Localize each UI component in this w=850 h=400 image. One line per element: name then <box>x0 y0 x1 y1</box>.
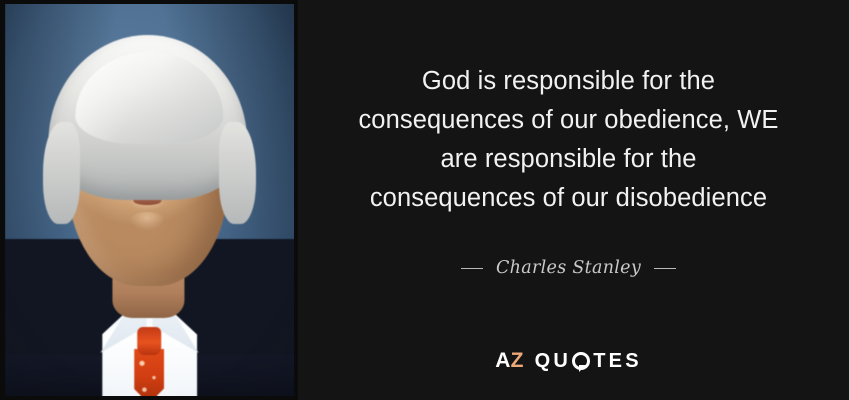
attribution-rule-right <box>654 268 676 269</box>
brand-letter-s: S <box>625 351 642 371</box>
brand-letter-a: A <box>495 349 510 372</box>
quote-panel: God is responsible for the consequences … <box>298 0 849 400</box>
attribution-rule-left <box>461 268 483 269</box>
speech-bubble-icon <box>572 352 590 370</box>
attribution: Charles Stanley <box>298 258 839 278</box>
brand-letter-e: E <box>609 351 626 371</box>
photo-vignette <box>5 4 294 396</box>
attribution-author-name: Charles Stanley <box>496 258 641 278</box>
portrait-panel <box>0 0 298 400</box>
quote-card: God is responsible for the consequences … <box>0 0 850 400</box>
brand-letter-z: Z <box>511 349 524 372</box>
brand-az-mark: AZ <box>495 350 523 371</box>
brand-letter-u: U <box>553 351 571 371</box>
portrait-image <box>5 4 294 396</box>
azquotes-logo[interactable]: AZ QUTES <box>298 350 839 371</box>
brand-quotes-word: QUTES <box>535 351 642 371</box>
brand-letter-t: T <box>593 351 608 371</box>
brand-letter-q: Q <box>535 351 554 371</box>
quote-text: God is responsible for the consequences … <box>298 62 839 218</box>
